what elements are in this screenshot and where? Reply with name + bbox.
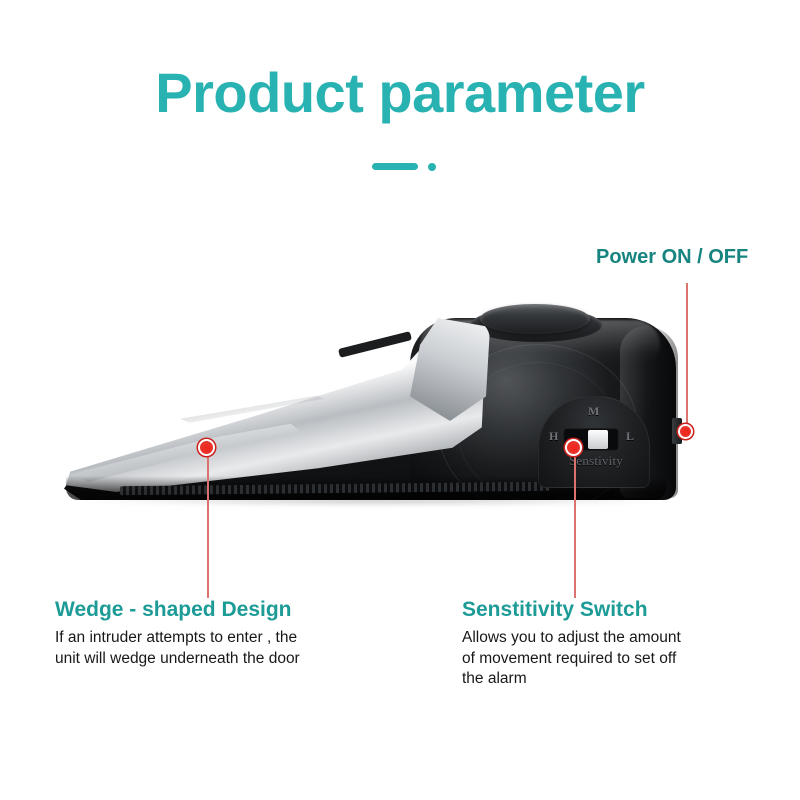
callout-wedge-design: Wedge - shaped Design If an intruder att…	[55, 598, 300, 669]
sensitivity-mark-high: H	[549, 429, 558, 444]
page-title: Product parameter	[0, 62, 800, 124]
callout-body-sensitivity: Allows you to adjust the amount of movem…	[462, 628, 681, 689]
product-chrome-slot	[338, 331, 412, 358]
title-divider-dot	[428, 163, 436, 171]
leader-line-power	[686, 283, 688, 431]
product-image-door-stop-alarm: H M L Senstivity	[60, 300, 710, 505]
callout-sensitivity-switch: Senstitivity Switch Allows you to adjust…	[462, 598, 681, 690]
infographic-page: Product parameter H M L Senstivity P	[0, 0, 800, 800]
marker-wedge-design	[198, 439, 215, 456]
marker-sensitivity-switch	[565, 439, 582, 456]
sensitivity-switch-toggle[interactable]	[588, 430, 608, 449]
sensitivity-mark-medium: M	[588, 404, 599, 419]
marker-power-switch	[678, 424, 693, 439]
callout-heading-wedge: Wedge - shaped Design	[55, 598, 300, 622]
callout-body-wedge: If an intruder attempts to enter , the u…	[55, 628, 300, 669]
leader-line-wedge	[207, 452, 209, 598]
leader-line-sensitivity	[574, 452, 576, 598]
product-floor-shadow	[80, 496, 670, 506]
sensitivity-mark-low: L	[626, 429, 634, 444]
sensitivity-caption: Senstivity	[546, 453, 646, 469]
callout-heading-power: Power ON / OFF	[596, 246, 748, 269]
product-top-knob	[480, 304, 590, 334]
callout-heading-sensitivity: Senstitivity Switch	[462, 598, 681, 622]
title-divider-bar	[372, 163, 418, 170]
